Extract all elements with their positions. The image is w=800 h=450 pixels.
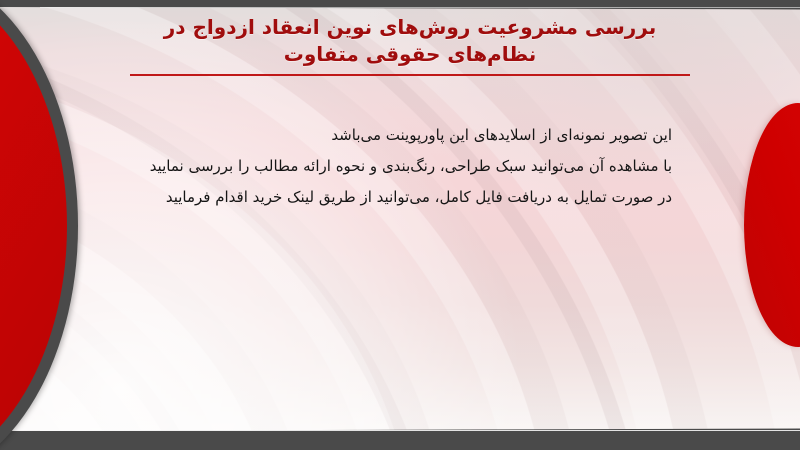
slide-title-line-2: نظام‌های حقوقی متفاوت (110, 41, 710, 68)
slide-body-text: این تصویر نمونه‌ای از اسلایدهای این پاور… (112, 120, 672, 213)
title-underline-rule (130, 74, 690, 76)
slide-title: بررسی مشروعیت روش‌های نوین انعقاد ازدواج… (110, 14, 710, 76)
body-line-2: با مشاهده آن می‌توانید سبک طراحی، رنگ‌بن… (112, 151, 672, 182)
slide-title-line-1: بررسی مشروعیت روش‌های نوین انعقاد ازدواج… (110, 14, 710, 41)
body-line-3: در صورت تمایل به دریافت فایل کامل، می‌تو… (112, 182, 672, 213)
body-line-1: این تصویر نمونه‌ای از اسلایدهای این پاور… (112, 120, 672, 151)
top-seam-line (40, 7, 800, 8)
bottom-seam-line (40, 430, 800, 431)
presentation-slide: بررسی مشروعیت روش‌های نوین انعقاد ازدواج… (0, 0, 800, 450)
